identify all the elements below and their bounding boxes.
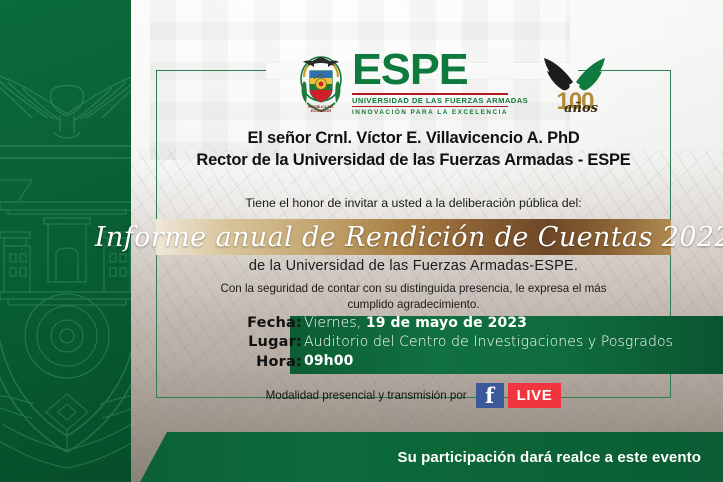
value-hora: 09h00 <box>304 352 715 371</box>
closing-line-1: Con la seguridad de contar con su distin… <box>186 281 641 297</box>
espe-wordmark-text: ESPE <box>352 50 532 90</box>
details-labels: Fecha: Lugar: Hora: <box>222 314 302 372</box>
espe-wordmark: ESPE UNIVERSIDAD DE LAS FUERZAS ARMADAS … <box>352 50 528 115</box>
label-lugar: Lugar: <box>222 333 302 352</box>
espe-subtitle-2: INNOVACIÓN PARA LA EXCELENCIA <box>352 109 528 116</box>
invitation-closing: Con la seguridad de contar con su distin… <box>186 281 641 312</box>
logo-row: REPÚBLICA DEL ECUADOR ESPE UNIVERSIDAD D… <box>298 50 598 116</box>
invitation-poster: REPÚBLICA DEL ECUADOR ESPE UNIVERSIDAD D… <box>0 0 723 482</box>
details-values: Viernes, 19 de mayo de 2023 Auditorio de… <box>304 314 715 370</box>
label-hora: Hora: <box>222 353 302 372</box>
page-title: El señor Crnl. Víctor E. Villavicencio A… <box>156 128 671 172</box>
centennial-wings-icon: 100 años <box>540 52 610 114</box>
headline-line-1: El señor Crnl. Víctor E. Villavicencio A… <box>156 128 671 150</box>
value-lugar: Auditorio del Centro de Investigaciones … <box>304 333 715 352</box>
invitation-intro: Tiene el honor de invitar a usted a la d… <box>156 196 671 210</box>
espe-subtitle-1: UNIVERSIDAD DE LAS FUERZAS ARMADAS <box>352 96 528 105</box>
espe-rule-bottom <box>352 106 508 107</box>
svg-text:años: años <box>564 101 599 114</box>
headline-line-2: Rector de la Universidad de las Fuerzas … <box>156 150 671 172</box>
value-fecha: Viernes, 19 de mayo de 2023 <box>304 314 715 333</box>
svg-text:ECUADOR: ECUADOR <box>311 108 331 113</box>
ecuador-coat-of-arms-icon: REPÚBLICA DEL ECUADOR <box>298 53 344 113</box>
invitation-subject: de la Universidad de las Fuerzas Armadas… <box>156 258 671 274</box>
live-badge[interactable]: LIVE <box>508 383 562 408</box>
banner-title: Informe anual de Rendición de Cuentas 20… <box>156 216 671 258</box>
footer-bar: Su participación dará realce a este even… <box>0 432 723 482</box>
value-fecha-date: 19 de mayo de 2023 <box>366 315 527 331</box>
broadcast-row: Modalidad presencial y transmisión por f… <box>156 383 671 408</box>
footer-message: Su participación dará realce a este even… <box>0 432 701 482</box>
closing-line-2: cumplido agradecimiento. <box>186 297 641 313</box>
label-fecha: Fecha: <box>222 314 302 333</box>
value-fecha-prefix: Viernes, <box>304 315 366 331</box>
broadcast-label: Modalidad presencial y transmisión por <box>266 389 467 402</box>
facebook-live-chip[interactable]: f LIVE <box>476 383 562 408</box>
facebook-icon[interactable]: f <box>476 383 504 408</box>
